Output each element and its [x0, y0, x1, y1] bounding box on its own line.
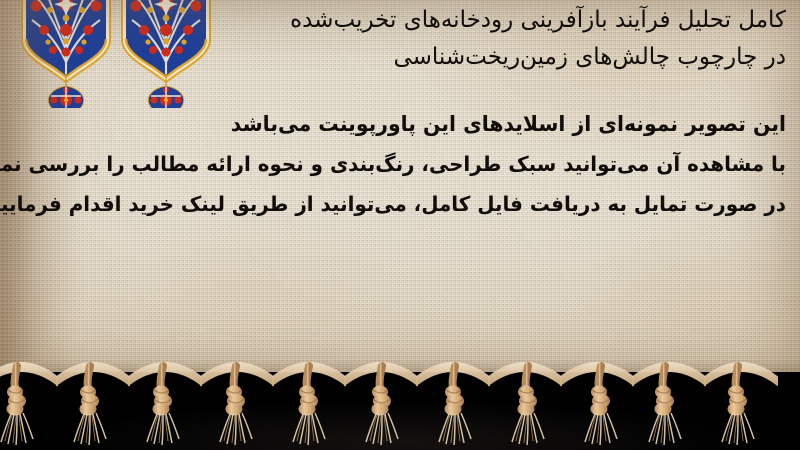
- title-line-1: کامل تحلیل فرآیند بازآفرینی رودخانه‌های …: [146, 2, 786, 39]
- fringe-tassel: [0, 352, 58, 450]
- body-line-2: با مشاهده آن می‌توانید سبک طراحی، رنگ‌بن…: [24, 144, 786, 184]
- slide-body-text: این تصویر نمونه‌ای از اسلایدهای این پاور…: [0, 104, 786, 224]
- fringe-tassel: [344, 352, 418, 450]
- fringe-tassel: [416, 352, 490, 450]
- fringe-tassel: [488, 352, 562, 450]
- fringe-tassel: [704, 352, 778, 450]
- fringe-tassel: [128, 352, 202, 450]
- slide-canvas: کامل تحلیل فرآیند بازآفرینی رودخانه‌های …: [0, 0, 800, 450]
- fringe-tassel: [56, 352, 130, 450]
- fringe-tassel: [560, 352, 634, 450]
- fringe-tassel: [632, 352, 706, 450]
- fringe-tassel: [200, 352, 274, 450]
- carpet-fringe: [0, 352, 800, 450]
- body-line-3: در صورت تمایل به دریافت فایل کامل، می‌تو…: [24, 184, 786, 224]
- slide-title: کامل تحلیل فرآیند بازآفرینی رودخانه‌های …: [146, 2, 786, 76]
- title-line-2: در چارچوب چالش‌های زمین‌ریخت‌شناسی: [146, 39, 786, 76]
- fringe-tassel: [272, 352, 346, 450]
- body-line-1: این تصویر نمونه‌ای از اسلایدهای این پاور…: [24, 104, 786, 144]
